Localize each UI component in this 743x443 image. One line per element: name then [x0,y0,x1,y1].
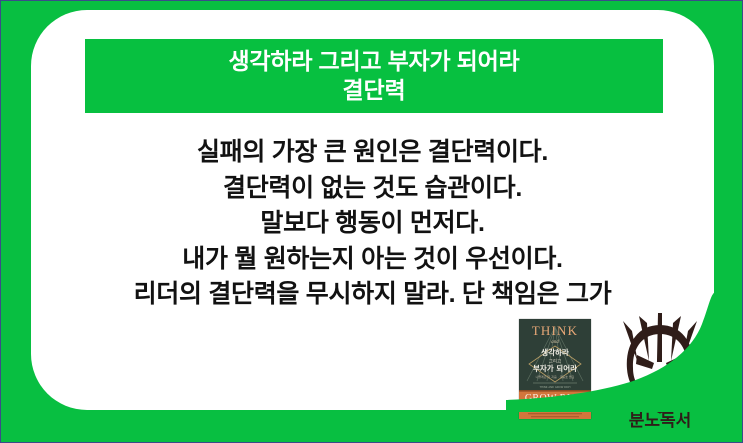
svg-text:부자가 되어라: 부자가 되어라 [533,363,577,373]
brand-logo-label: 분노독서 [629,411,692,429]
brand-logo: 분노독서 [609,311,711,429]
svg-text:THINK: THINK [532,323,578,338]
title-line-2: 결단력 [343,76,406,105]
svg-text:전 세계 독자들에게 성공의 길을 열어준 바로 그 책: 전 세계 독자들에게 성공의 길을 열어준 바로 그 책 [525,403,586,408]
svg-text:THINK AND GROW RICH: THINK AND GROW RICH [540,385,571,389]
title-line-1: 생각하라 그리고 부자가 되어라 [228,47,519,76]
body-text-block: 실패의 가장 큰 원인은 결단력이다. 결단력이 없는 것도 습관이다. 말보다… [31,135,714,313]
slide-canvas: 생각하라 그리고 부자가 되어라 결단력 실패의 가장 큰 원인은 결단력이다.… [0,0,743,443]
body-line: 리더의 결단력을 무시하지 말라. 단 책임은 그가 [31,277,714,313]
svg-text:and: and [551,340,559,345]
content-card: 생각하라 그리고 부자가 되어라 결단력 실패의 가장 큰 원인은 결단력이다.… [31,10,714,410]
body-line: 결단력이 없는 것도 습관이다. [31,171,714,207]
book-cover-image: THINK and 생각하라 그리고 부자가 되어라 나폴레온 힐 지음 · 국… [519,319,591,419]
title-banner: 생각하라 그리고 부자가 되어라 결단력 [85,39,663,113]
svg-text:나폴레온 힐 지음 · 국중호 옮김: 나폴레온 힐 지음 · 국중호 옮김 [536,374,575,379]
svg-text:생각하라: 생각하라 [541,347,569,357]
body-line: 내가 뭘 원하는지 아는 것이 우선이다. [31,242,714,278]
body-line: 말보다 행동이 먼저다. [31,206,714,242]
body-line: 실패의 가장 큰 원인은 결단력이다. [31,135,714,171]
open-book-icon [623,386,697,411]
svg-text:GROW RICH: GROW RICH [525,393,585,404]
